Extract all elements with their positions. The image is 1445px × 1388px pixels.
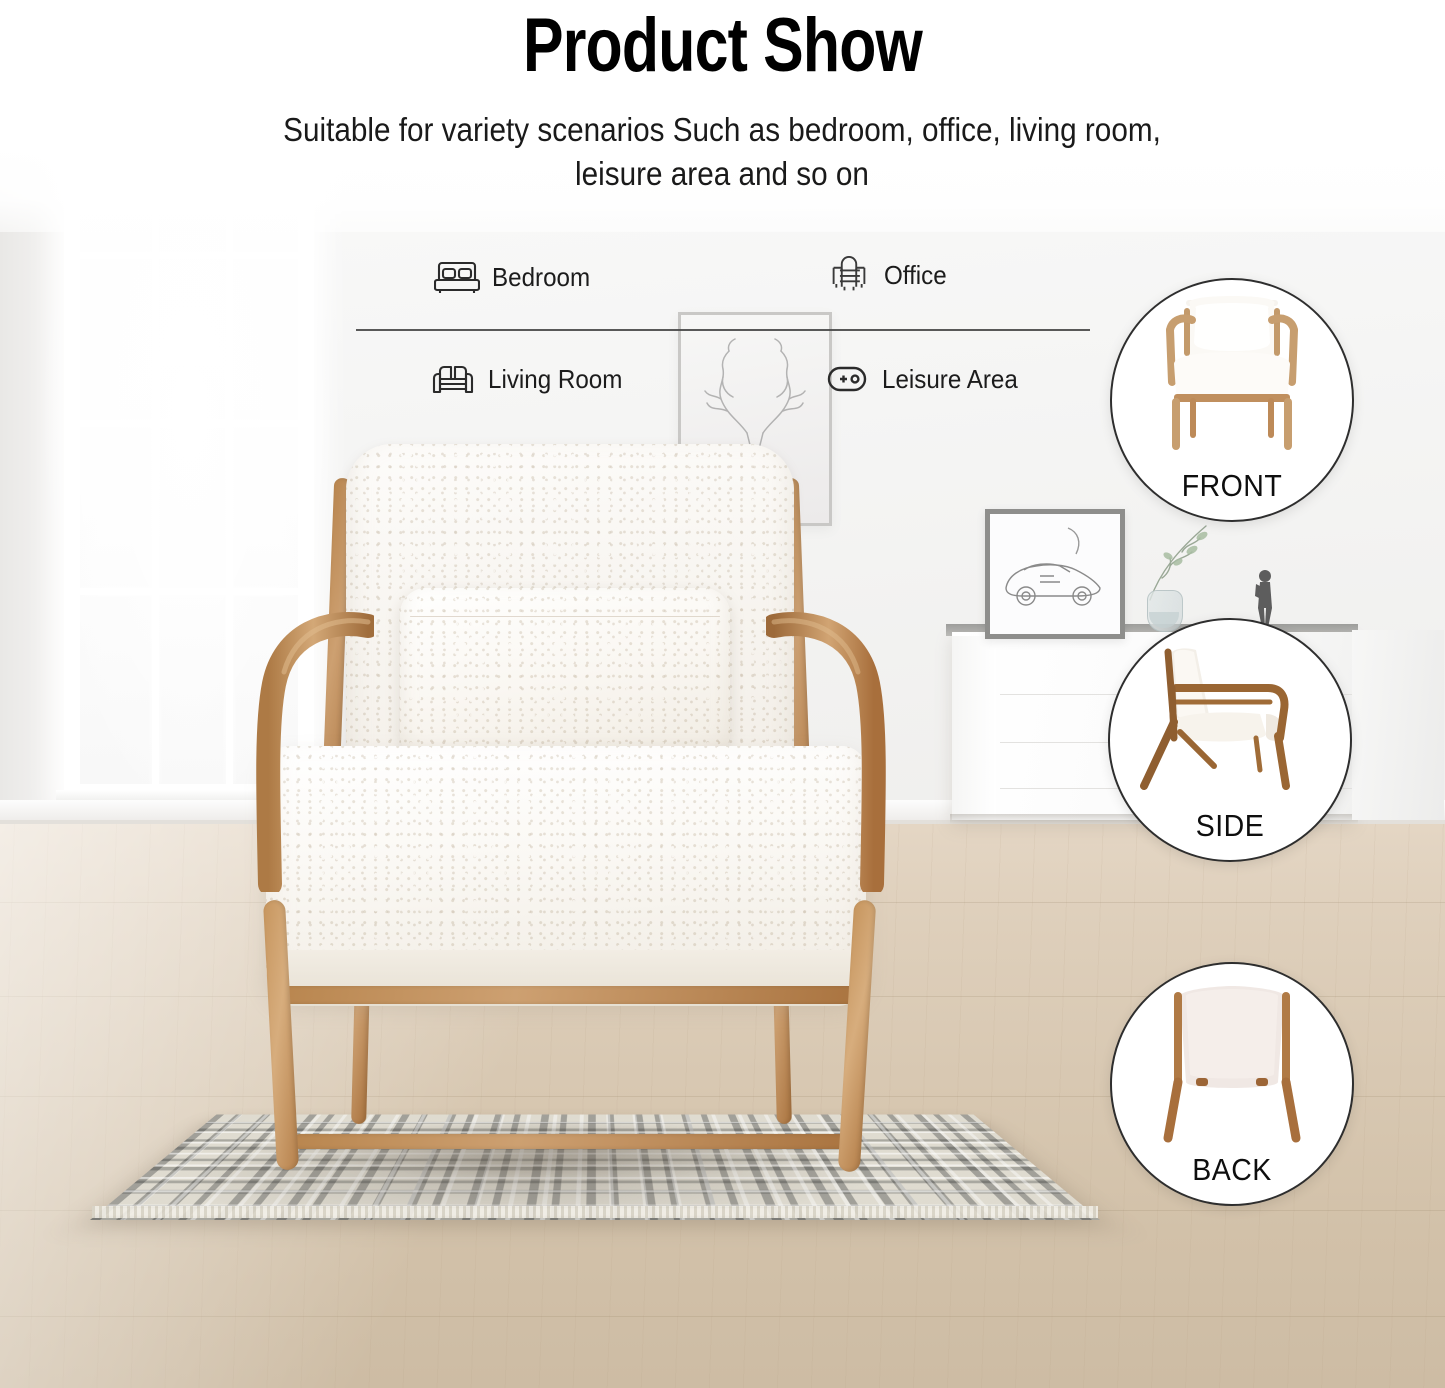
arm-left-svg <box>256 592 374 892</box>
scenario-office-label: Office <box>884 260 947 291</box>
wicker-basket <box>0 862 136 974</box>
sideboard-left-panel <box>952 636 996 820</box>
scenario-divider <box>356 329 1090 331</box>
chair-arm-left <box>256 592 374 892</box>
office-chair-icon <box>826 256 872 294</box>
callout-front-label: FRONT <box>1122 468 1343 504</box>
callout-back[interactable]: BACK <box>1110 962 1354 1206</box>
decorative-branch <box>1120 510 1230 602</box>
pillow-seam <box>410 616 720 617</box>
chair-lower-stretcher <box>294 1134 856 1149</box>
callout-side-label: SIDE <box>1120 808 1341 844</box>
scenario-living-room-label: Living Room <box>488 364 622 395</box>
sideboard-right-section <box>1352 630 1444 820</box>
lumbar-pillow <box>400 588 730 760</box>
scenario-office[interactable]: Office <box>826 256 951 294</box>
callout-back-label: BACK <box>1122 1152 1343 1188</box>
scenario-leisure-area[interactable]: Leisure Area <box>824 360 1028 398</box>
scenario-bedroom[interactable]: Bedroom <box>434 258 598 296</box>
scenario-leisure-area-label: Leisure Area <box>882 364 1018 395</box>
chair-side-view <box>1110 626 1350 806</box>
accent-armchair <box>250 430 890 1190</box>
product-show-image: Product Show Suitable for variety scenar… <box>0 0 1445 1388</box>
callout-front[interactable]: FRONT <box>1110 278 1354 522</box>
pillow-boucle-texture <box>400 588 730 760</box>
chair-front-view <box>1112 286 1352 466</box>
bed-icon <box>434 258 480 296</box>
scenario-bedroom-label: Bedroom <box>492 262 590 293</box>
rug-fringe <box>92 1206 1098 1218</box>
chair-front-rail <box>284 986 864 1004</box>
page-title: Product Show <box>145 2 1301 89</box>
sofa-icon <box>430 360 476 398</box>
page-subtitle: Suitable for variety scenarios Such as b… <box>272 108 1172 195</box>
chair-arm-right <box>766 592 886 892</box>
leisure-gamepad-icon <box>824 360 870 398</box>
chair-back-view <box>1112 970 1352 1150</box>
callout-side[interactable]: SIDE <box>1108 618 1352 862</box>
arm-right-svg <box>766 592 886 892</box>
framed-car-print <box>985 509 1125 639</box>
scenario-living-room[interactable]: Living Room <box>430 360 633 398</box>
car-sketch-svg <box>990 514 1120 634</box>
